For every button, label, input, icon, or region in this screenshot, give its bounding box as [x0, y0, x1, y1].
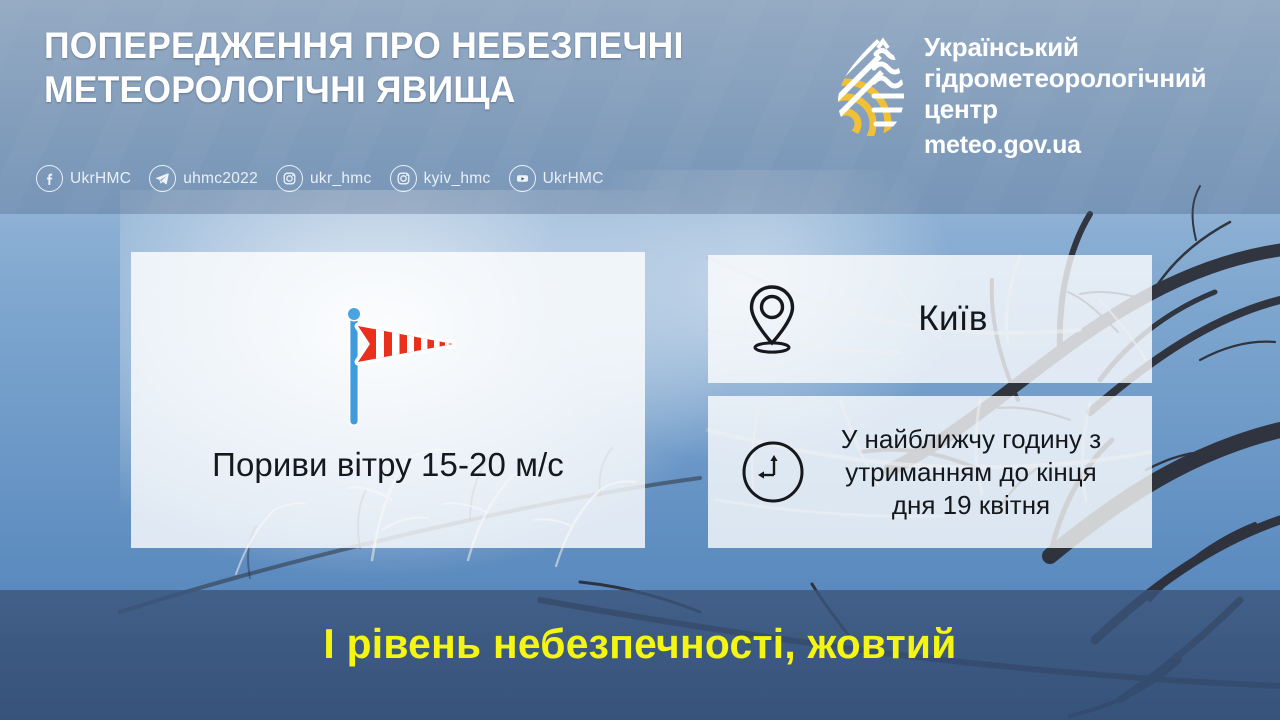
- page-title-line-2: МЕТЕОРОЛОГІЧНІ ЯВИЩА: [44, 68, 774, 112]
- map-pin-icon: [744, 283, 800, 355]
- time-period-line-1: У найближчу годину з: [812, 423, 1130, 456]
- social-links: UkrHMC uhmc2022 ukr_hm: [36, 165, 622, 192]
- social-link-instagram-kyiv[interactable]: kyiv_hmc: [390, 165, 491, 192]
- social-handle: ukr_hmc: [310, 170, 372, 188]
- time-period-text: У найближчу годину з утриманням до кінця…: [812, 423, 1130, 522]
- hazard-card: Пориви вітру 15-20 м/с: [131, 252, 645, 548]
- clock-icon: [740, 439, 806, 505]
- page-title: ПОПЕРЕДЖЕННЯ ПРО НЕБЕЗПЕЧНІ МЕТЕОРОЛОГІЧ…: [44, 24, 774, 112]
- social-handle: UkrHMC: [70, 170, 131, 188]
- poster-stage: ПОПЕРЕДЖЕННЯ ПРО НЕБЕЗПЕЧНІ МЕТЕОРОЛОГІЧ…: [0, 0, 1280, 720]
- wind-pennant-icon: [313, 288, 463, 438]
- logo-name-line-1: Український: [924, 32, 1206, 63]
- instagram-icon: [390, 165, 417, 192]
- social-handle: UkrHMC: [543, 170, 604, 188]
- time-period-line-3: дня 19 квітня: [812, 489, 1130, 522]
- social-handle: uhmc2022: [183, 170, 258, 188]
- organisation-logo[interactable]: Український гідрометеорологічний центр m…: [836, 32, 1206, 160]
- youtube-icon: [509, 165, 536, 192]
- hazard-description: Пориви вітру 15-20 м/с: [212, 446, 564, 484]
- danger-level-text: I рівень небезпечності, жовтий: [19, 620, 1261, 668]
- social-link-facebook[interactable]: UkrHMC: [36, 165, 131, 192]
- instagram-icon: [276, 165, 303, 192]
- location-name: Київ: [800, 299, 1106, 339]
- logo-text-block: Український гідрометеорологічний центр m…: [924, 32, 1206, 160]
- facebook-icon: [36, 165, 63, 192]
- social-link-telegram[interactable]: uhmc2022: [149, 165, 258, 192]
- header-band: ПОПЕРЕДЖЕННЯ ПРО НЕБЕЗПЕЧНІ МЕТЕОРОЛОГІЧ…: [0, 0, 1280, 214]
- page-title-line-1: ПОПЕРЕДЖЕННЯ ПРО НЕБЕЗПЕЧНІ: [44, 24, 774, 68]
- social-handle: kyiv_hmc: [424, 170, 491, 188]
- time-period-line-2: утриманням до кінця: [812, 456, 1130, 489]
- ukrhmc-droplet-logo-icon: [836, 32, 906, 140]
- social-link-youtube[interactable]: UkrHMC: [509, 165, 604, 192]
- location-card: Київ: [708, 255, 1152, 383]
- logo-name-line-2: гідрометеорологічний: [924, 63, 1206, 94]
- logo-website-url: meteo.gov.ua: [924, 130, 1206, 160]
- logo-name-line-3: центр: [924, 94, 1206, 125]
- social-link-instagram-ukr[interactable]: ukr_hmc: [276, 165, 372, 192]
- time-card: У найближчу годину з утриманням до кінця…: [708, 396, 1152, 548]
- telegram-icon: [149, 165, 176, 192]
